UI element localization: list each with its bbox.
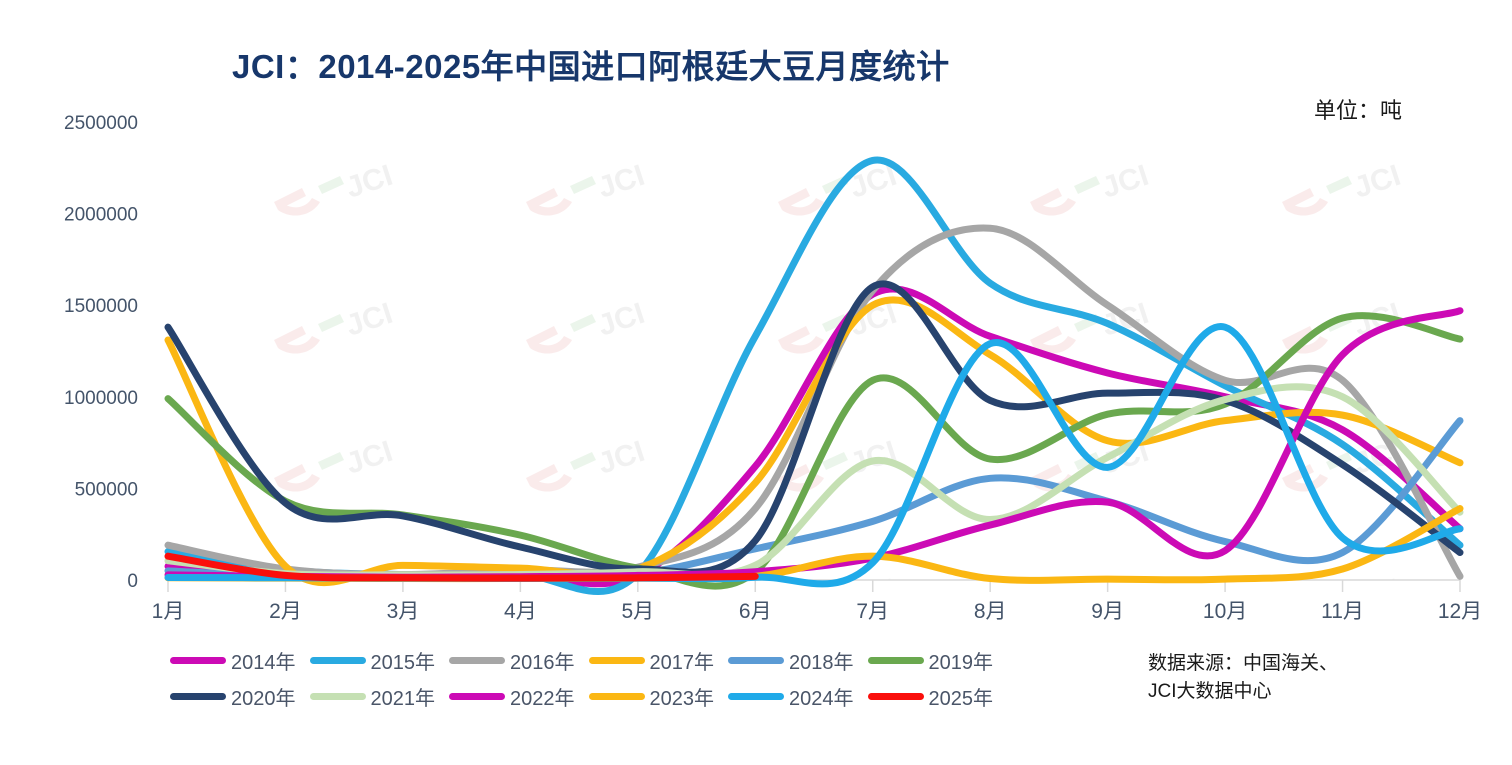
legend-row-1: 2014年2015年2016年2017年2018年2019年	[170, 642, 1020, 678]
source-line-1: 数据来源：中国海关、	[1148, 650, 1338, 678]
x-axis-tick-label: 10月	[1203, 600, 1247, 623]
legend-item-label: 2025年	[929, 682, 994, 711]
legend-item-label: 2023年	[650, 682, 715, 711]
y-axis-tick-label: 1500000	[64, 296, 138, 317]
legend-item-label: 2016年	[510, 646, 575, 675]
legend-swatch-icon	[589, 657, 645, 664]
x-axis-tick-label: 8月	[974, 600, 1007, 623]
legend-item-label: 2022年	[510, 682, 575, 711]
legend-item-label: 2021年	[371, 682, 436, 711]
legend-item-label: 2018年	[789, 646, 854, 675]
source-note: 数据来源：中国海关、 JCI大数据中心	[1148, 650, 1338, 705]
x-axis-tick-label: 2月	[269, 600, 302, 623]
legend-item-2014年[interactable]: 2014年	[170, 646, 304, 675]
source-line-2: JCI大数据中心	[1148, 678, 1338, 706]
legend-item-2021年[interactable]: 2021年	[310, 682, 444, 711]
x-axis-tick-label: 9月	[1091, 600, 1124, 623]
legend-swatch-icon	[170, 693, 226, 700]
legend-item-2016年[interactable]: 2016年	[449, 646, 583, 675]
legend-swatch-icon	[449, 693, 505, 700]
legend-item-2018年[interactable]: 2018年	[728, 646, 862, 675]
y-axis-tick-labels: 05000001000000150000020000002500000	[64, 113, 138, 592]
legend-swatch-icon	[868, 693, 924, 700]
legend-item-2015年[interactable]: 2015年	[310, 646, 444, 675]
legend-row-2: 2020年2021年2022年2023年2024年2025年	[170, 678, 1020, 714]
legend-item-2017年[interactable]: 2017年	[589, 646, 723, 675]
x-axis-tick-label: 1月	[152, 600, 185, 623]
legend-swatch-icon	[310, 693, 366, 700]
legend-item-label: 2014年	[231, 646, 296, 675]
legend-swatch-icon	[589, 693, 645, 700]
legend-swatch-icon	[728, 693, 784, 700]
legend-item-label: 2020年	[231, 682, 296, 711]
legend-item-2025年[interactable]: 2025年	[868, 682, 1002, 711]
legend-swatch-icon	[170, 657, 226, 664]
x-axis-tick-label: 12月	[1438, 600, 1482, 623]
y-axis-tick-label: 1000000	[64, 388, 138, 409]
legend-item-2020年[interactable]: 2020年	[170, 682, 304, 711]
legend-swatch-icon	[449, 657, 505, 664]
chart-legend: 2014年2015年2016年2017年2018年2019年 2020年2021…	[170, 642, 1020, 714]
legend-item-2019年[interactable]: 2019年	[868, 646, 1002, 675]
x-axis-tick-labels: 1月2月3月4月5月6月7月8月9月10月11月12月	[152, 600, 1483, 623]
legend-swatch-icon	[728, 657, 784, 664]
legend-item-label: 2017年	[650, 646, 715, 675]
x-axis-tick-label: 7月	[856, 600, 889, 623]
legend-item-2024年[interactable]: 2024年	[728, 682, 862, 711]
legend-swatch-icon	[868, 657, 924, 664]
y-axis-tick-label: 500000	[75, 479, 138, 500]
x-axis-tick-label: 4月	[504, 600, 537, 623]
legend-swatch-icon	[310, 657, 366, 664]
legend-item-label: 2024年	[789, 682, 854, 711]
y-axis-tick-label: 2000000	[64, 205, 138, 226]
legend-item-2023年[interactable]: 2023年	[589, 682, 723, 711]
x-axis-tick-label: 11月	[1321, 600, 1364, 623]
y-axis-tick-label: 2500000	[64, 113, 138, 134]
x-axis-tick-label: 3月	[387, 600, 420, 623]
chart-container: JCI：2014-2025年中国进口阿根廷大豆月度统计 单位：吨 JCI 050…	[0, 0, 1512, 765]
y-axis-tick-label: 0	[127, 571, 138, 592]
x-axis-tick-label: 6月	[739, 600, 772, 623]
legend-item-2022年[interactable]: 2022年	[449, 682, 583, 711]
x-axis-tick-label: 5月	[621, 600, 654, 623]
legend-item-label: 2019年	[929, 646, 994, 675]
legend-item-label: 2015年	[371, 646, 436, 675]
